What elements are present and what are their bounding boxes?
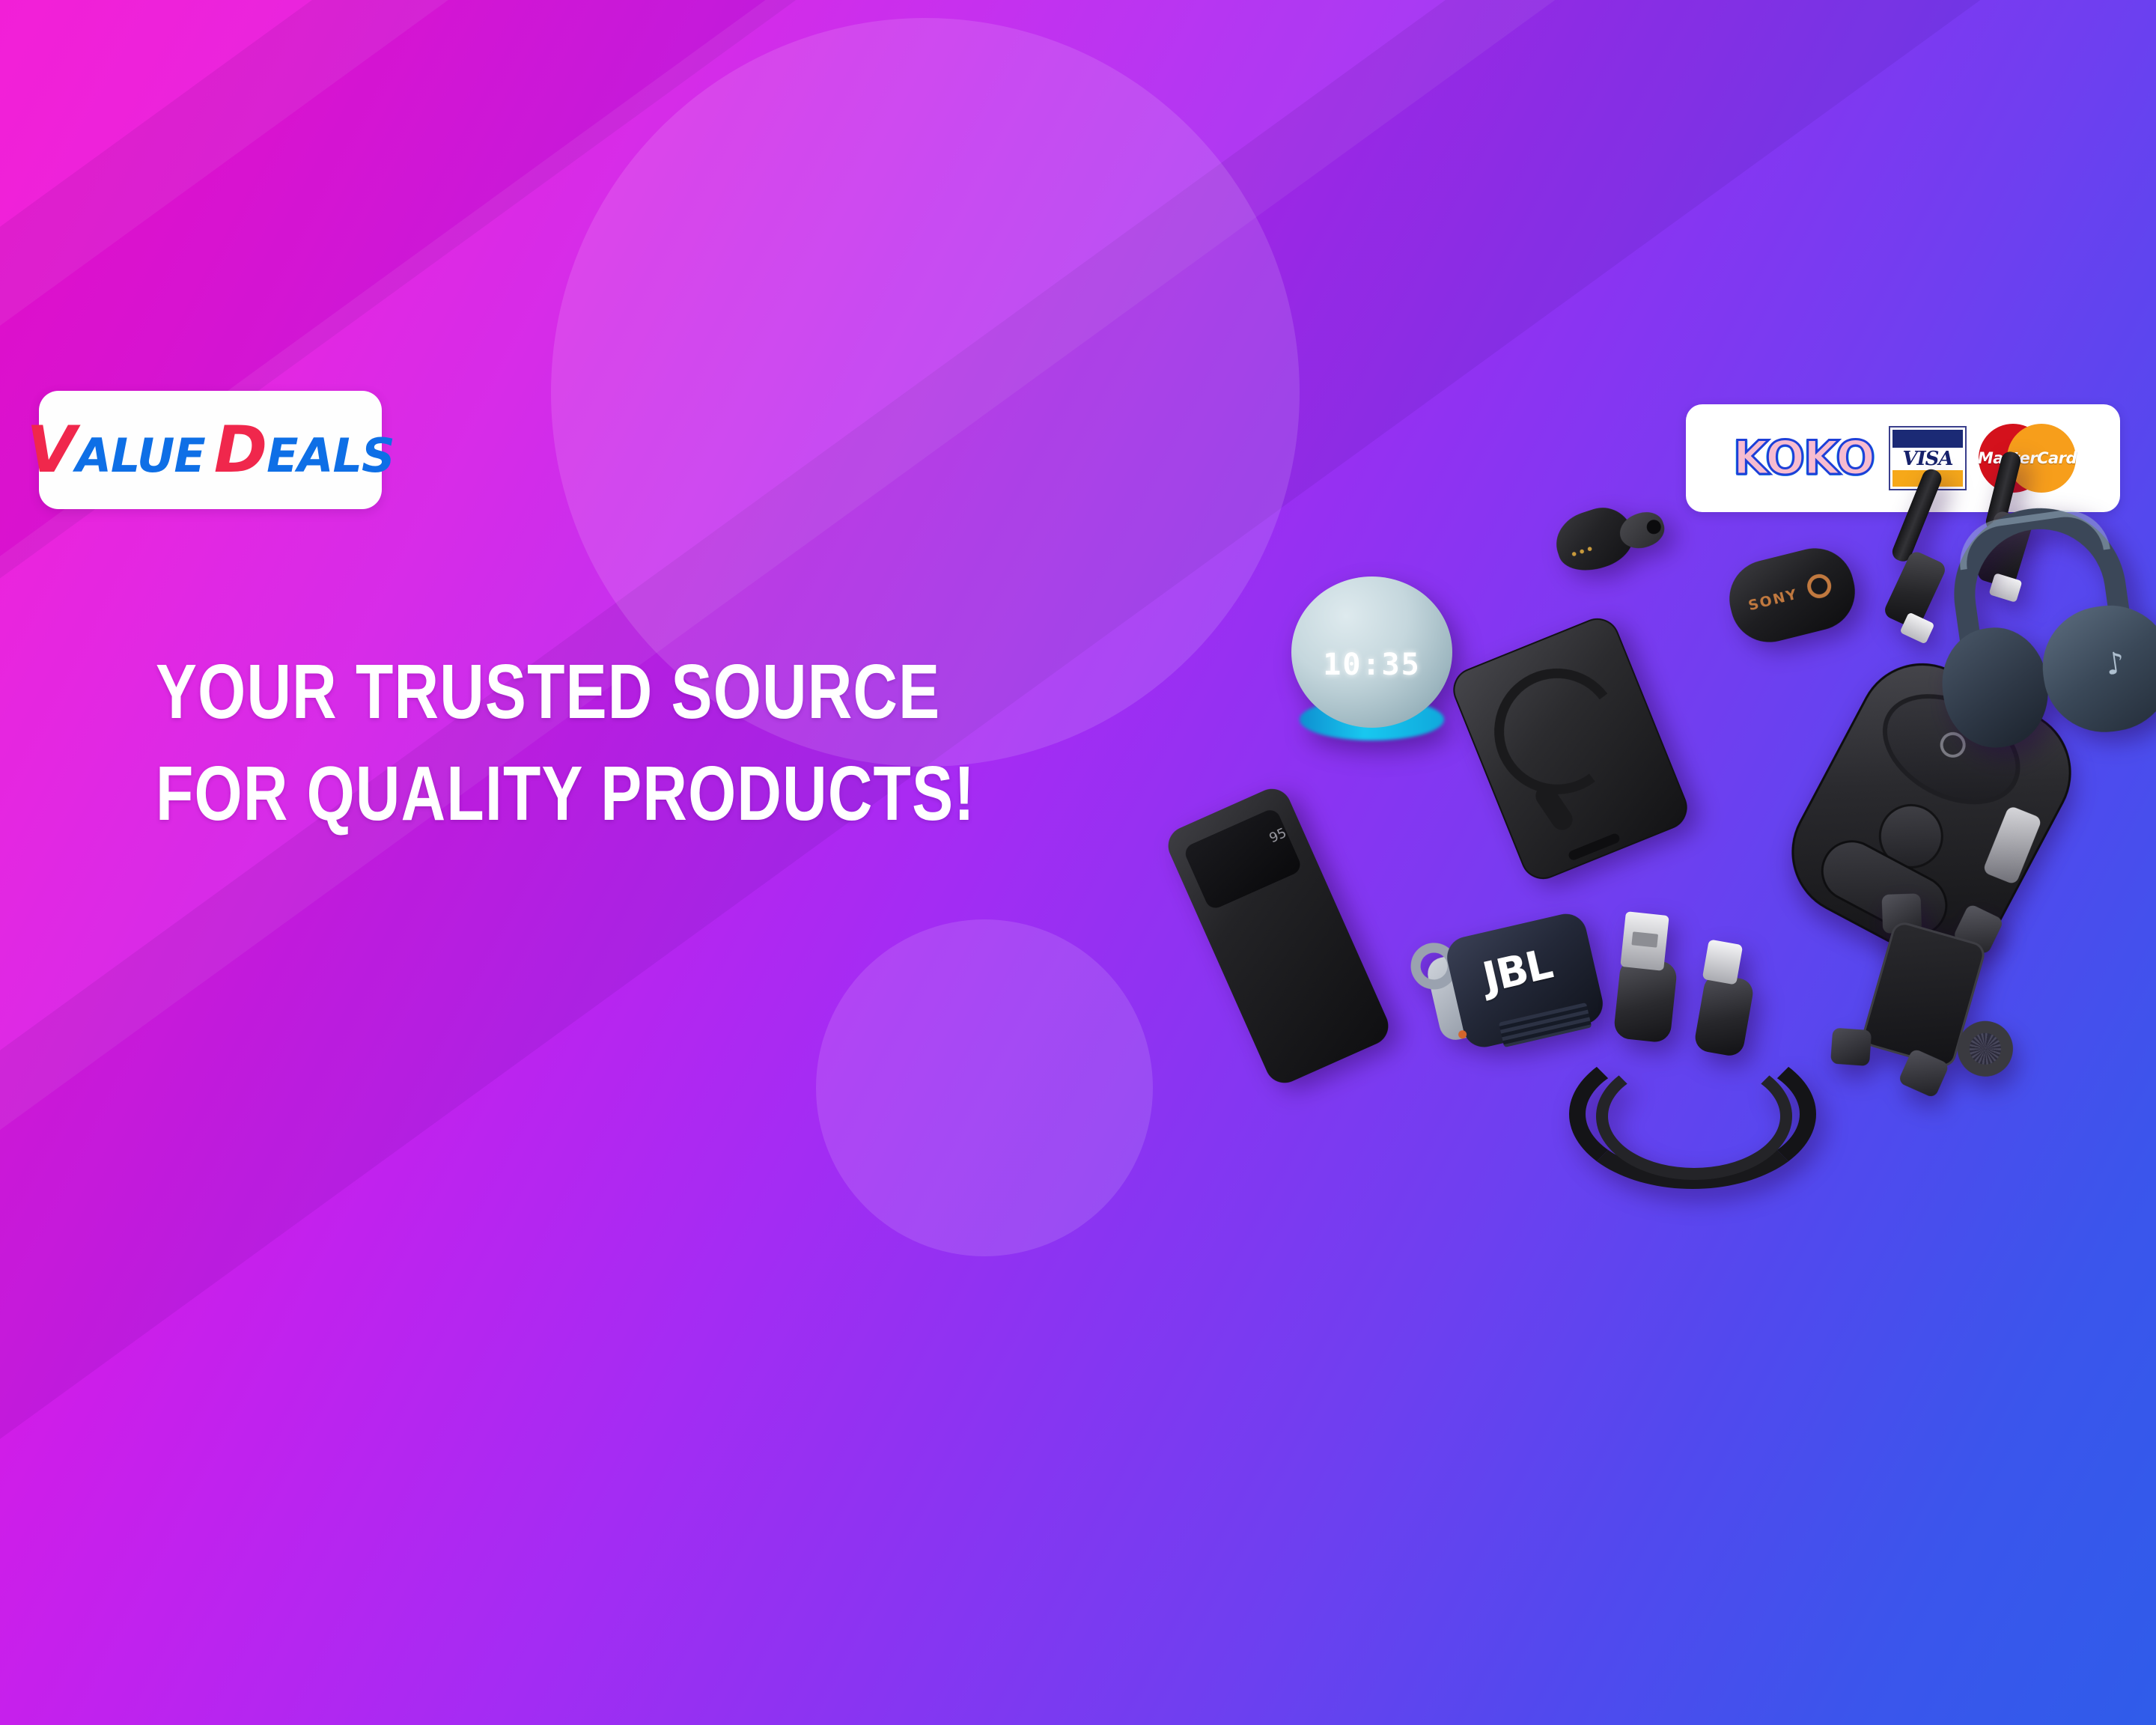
product-headphones: ♪ [1907,492,2156,779]
brand-logo-wordmark: V ALUE D EALS [26,418,394,482]
mount-arm-bottom-left [1830,1028,1872,1067]
product-sony-earbud: SONY [1721,540,1863,650]
brand-logo[interactable]: V ALUE D EALS [39,391,382,509]
visa-navy-bar [1892,430,1963,448]
product-usb-cable [1595,913,1834,1138]
product-jbl-speaker: JBL [1416,903,1614,1073]
promo-banner: V ALUE D EALS YOUR TRUSTED SOURCE FOR QU… [0,0,2156,1725]
headline: YOUR TRUSTED SOURCE FOR QUALITY PRODUCTS… [156,641,862,845]
visa-label: VISA [1890,448,1965,470]
usb-a-grip [1613,957,1678,1043]
product-earbud [1547,485,1680,598]
product-collage: 10:35 SONY [1265,479,2156,1048]
logo-letter-v: V [26,418,76,482]
logo-text-eals: EALS [267,433,395,479]
logo-text-alue: ALUE [76,433,205,479]
usb-a-connector [1620,911,1669,971]
echo-clock-display: 10:35 [1291,648,1452,682]
koko-logo: KOKO [1730,435,1877,481]
decor-circle-small [816,919,1153,1256]
usb-cable-loop-inner [1596,1053,1792,1180]
logo-letter-d: D [214,418,267,482]
usb-c-grip [1693,973,1755,1058]
product-magsafe-power-bank [1446,612,1693,886]
headline-line-1: YOUR TRUSTED SOURCE [156,641,862,743]
product-echo-dot: 10:35 [1291,576,1452,737]
headline-line-2: FOR QUALITY PRODUCTS! [156,743,862,845]
usb-c-connector [1702,939,1744,985]
